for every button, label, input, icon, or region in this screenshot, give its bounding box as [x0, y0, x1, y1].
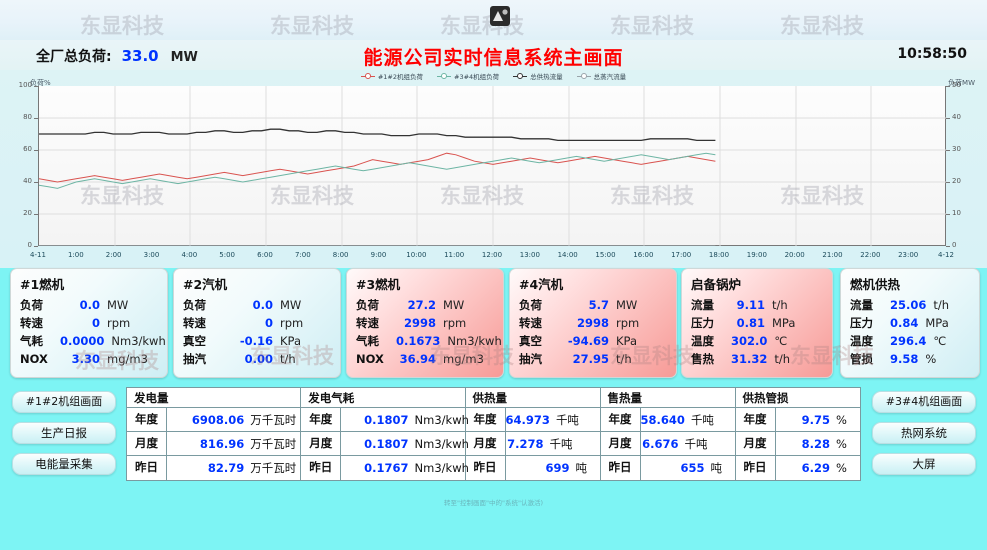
panel-row-label: 管损: [850, 350, 890, 368]
panel-row-value: -94.69: [559, 332, 616, 350]
chart-y-tick-right: 20: [952, 177, 974, 185]
panel-title: #1燃机: [20, 274, 159, 293]
chart-x-tick: 3:00: [132, 251, 172, 259]
panel-row-unit: Nm3/kwh: [447, 332, 499, 350]
panel-row: 管损9.58%: [850, 350, 971, 368]
chart-y-tick: 0: [10, 241, 32, 249]
statistics-unit: 万千瓦时: [244, 436, 296, 452]
panel-row-value: 36.94: [396, 350, 443, 368]
statistics-row-value-cell: 6.676千吨: [641, 432, 735, 455]
panel-row-label: 售热: [691, 350, 731, 368]
panel-row: 转速0rpm: [20, 314, 159, 332]
panel-row-value: 0.0000: [60, 332, 111, 350]
panel-row-unit: rpm: [443, 314, 495, 332]
legend-label: #3#4机组负荷: [454, 71, 499, 81]
chart-plot-area[interactable]: [38, 86, 946, 246]
statistics-unit: %: [830, 437, 856, 451]
panel-row: 负荷0.0MW: [183, 296, 332, 314]
chart-x-tick: 10:00: [396, 251, 436, 259]
chart-y-tick: 60: [10, 145, 32, 153]
panel-row-value: 3.30: [60, 350, 107, 368]
statistics-unit: 千吨: [685, 412, 737, 428]
panel-row-value: 5.7: [559, 296, 616, 314]
chart-x-tick: 19:00: [737, 251, 777, 259]
chart-y-tick: 40: [10, 177, 32, 185]
statistics-row: 月度8.28%: [736, 432, 860, 456]
corner-logo-icon: [489, 5, 511, 27]
statistics-column-header: 售热量: [601, 388, 735, 408]
legend-label: #1#2机组负荷: [378, 71, 423, 81]
statistics-row: 年度0.1807Nm3/kwh: [301, 408, 464, 432]
chart-x-tick: 14:00: [548, 251, 588, 259]
chart-series-line: [39, 153, 715, 182]
chart-y-tick: 100: [10, 81, 32, 89]
statistics-row-label: 昨日: [301, 456, 341, 480]
panel-title: 启备锅炉: [691, 274, 824, 293]
panel-row-value: 0: [60, 314, 107, 332]
statistics-row: 月度6.676千吨: [601, 432, 735, 456]
chart-y-tick: 20: [10, 209, 32, 217]
statistics-unit: Nm3/kwh: [409, 437, 461, 451]
statistics-unit: 吨: [570, 460, 596, 476]
statistics-row: 昨日82.79万千瓦时: [127, 456, 300, 480]
panel-row-label: 气耗: [356, 332, 396, 350]
statistics-column-header: 供热管损: [736, 388, 860, 408]
panel-row-unit: MW: [616, 296, 668, 314]
statistics-row-value-cell: 699吨: [506, 456, 600, 480]
panel-row-unit: MPa: [925, 314, 977, 332]
statistics-row: 月度816.96万千瓦时: [127, 432, 300, 456]
panel-row: 真空-0.16KPa: [183, 332, 332, 350]
heat-network-system-button[interactable]: 热网系统: [872, 422, 976, 444]
statistics-row-label: 月度: [466, 432, 506, 455]
panel-row-label: 真空: [519, 332, 559, 350]
panel-row-label: NOX: [20, 350, 60, 368]
chart-x-tick: 4-12: [926, 251, 966, 259]
chart-x-tick: 12:00: [472, 251, 512, 259]
panel-row: 真空-94.69KPa: [519, 332, 668, 350]
statistics-row-value-cell: 0.1767Nm3/kwh: [341, 456, 464, 480]
statistics-row-label: 昨日: [466, 456, 506, 480]
panel-row-value: 0.0: [223, 296, 280, 314]
chart-x-tick: 1:00: [56, 251, 96, 259]
unit-12-screen-button[interactable]: #1#2机组画面: [12, 391, 116, 413]
big-screen-button[interactable]: 大屏: [872, 453, 976, 475]
statistics-row-label: 昨日: [736, 456, 776, 480]
statistics-row-label: 年度: [601, 408, 641, 431]
equipment-panel[interactable]: #3燃机负荷27.2MW转速2998rpm气耗0.1673Nm3/kwhNOX3…: [346, 268, 504, 378]
panel-row: 转速2998rpm: [519, 314, 668, 332]
statistics-row-value-cell: 655吨: [641, 456, 735, 480]
statistics-value: 0.1807: [364, 437, 408, 451]
panel-title: #4汽机: [519, 274, 668, 293]
statistics-row-value-cell: 58.640千吨: [641, 408, 741, 431]
equipment-panels: #1燃机负荷0.0MW转速0rpm气耗0.0000Nm3/kwhNOX3.30m…: [0, 265, 987, 383]
legend-item[interactable]: 总蒸汽流量: [577, 71, 627, 81]
chart-y-tick-right: 30: [952, 145, 974, 153]
panel-row-label: NOX: [356, 350, 396, 368]
panel-row: 负荷0.0MW: [20, 296, 159, 314]
panel-row-value: 2998: [559, 314, 616, 332]
panel-row-unit: rpm: [616, 314, 668, 332]
legend-marker-icon: [361, 73, 375, 80]
panel-row-unit: %: [925, 350, 977, 368]
statistics-row: 昨日699吨: [466, 456, 600, 480]
equipment-panel[interactable]: #4汽机负荷5.7MW转速2998rpm真空-94.69KPa抽汽27.95t/…: [509, 268, 677, 378]
statistics-value: 699: [546, 461, 570, 475]
statistics-unit: 吨: [705, 460, 731, 476]
panel-row-label: 转速: [20, 314, 60, 332]
statistics-row: 年度64.973千吨: [466, 408, 600, 432]
statistics-column-header: 发电气耗: [301, 388, 464, 408]
statistics-value: 6.676: [642, 437, 678, 451]
panel-row-value: 0.00: [223, 350, 280, 368]
trend-chart[interactable]: #1#2机组负荷#3#4机组负荷总供热流量总蒸汽流量 负荷% 负荷MW 1008…: [0, 70, 987, 268]
panel-row-label: 温度: [691, 332, 731, 350]
panel-row-value: 9.58: [890, 350, 925, 368]
legend-item[interactable]: #1#2机组负荷: [361, 71, 423, 81]
legend-item[interactable]: 总供热流量: [513, 71, 563, 81]
statistics-value: 58.640: [641, 413, 685, 427]
chart-x-tick: 16:00: [623, 251, 663, 259]
statistics-value: 655: [681, 461, 705, 475]
statistics-row: 昨日655吨: [601, 456, 735, 480]
panel-row-label: 真空: [183, 332, 223, 350]
panel-row: 压力0.84MPa: [850, 314, 971, 332]
panel-row-value: 0.1673: [396, 332, 447, 350]
legend-label: 总蒸汽流量: [594, 71, 627, 81]
statistics-unit: Nm3/kwh: [409, 413, 461, 427]
statistics-row-label: 年度: [736, 408, 776, 431]
statistics-row-label: 年度: [301, 408, 341, 431]
statistics-row-label: 月度: [736, 432, 776, 455]
statistics-value: 8.28: [802, 437, 830, 451]
panel-row-unit: rpm: [280, 314, 332, 332]
statistics-row-label: 月度: [127, 432, 167, 455]
panel-row: 售热31.32t/h: [691, 350, 824, 368]
chart-x-tick: 9:00: [359, 251, 399, 259]
panel-row-label: 温度: [850, 332, 890, 350]
panel-row-value: 25.06: [890, 296, 933, 314]
panel-row-value: 2998: [396, 314, 443, 332]
panel-row-unit: Nm3/kwh: [111, 332, 163, 350]
statistics-column: 供热量年度64.973千吨月度7.278千吨昨日699吨: [466, 388, 601, 480]
statistics-row-label: 年度: [466, 408, 506, 431]
statistics-row-label: 昨日: [601, 456, 641, 480]
statistics-value: 7.278: [507, 437, 543, 451]
legend-marker-icon: [513, 73, 527, 80]
chart-y-tick: 80: [10, 113, 32, 121]
statistics-row-value-cell: 6908.06万千瓦时: [167, 408, 300, 431]
chart-x-tick: 4:00: [169, 251, 209, 259]
panel-row-unit: t/h: [772, 296, 824, 314]
chart-x-tick: 13:00: [510, 251, 550, 259]
chart-x-tick: 18:00: [699, 251, 739, 259]
statistics-row-value-cell: 8.28%: [776, 432, 860, 455]
statistics-row-value-cell: 0.1807Nm3/kwh: [341, 408, 464, 431]
panel-row-unit: MW: [280, 296, 332, 314]
chart-legend: #1#2机组负荷#3#4机组负荷总供热流量总蒸汽流量: [0, 70, 987, 82]
panel-row-label: 流量: [691, 296, 731, 314]
statistics-row: 昨日0.1767Nm3/kwh: [301, 456, 464, 480]
footer-note: 转至"控制画面"中的"系统"认激活): [0, 497, 987, 507]
panel-row-label: 负荷: [183, 296, 223, 314]
statistics-row-label: 年度: [127, 408, 167, 431]
panel-title: #2汽机: [183, 274, 332, 293]
panel-title: #3燃机: [356, 274, 495, 293]
chart-x-tick: 6:00: [245, 251, 285, 259]
panel-row-label: 负荷: [519, 296, 559, 314]
statistics-value: 6908.06: [192, 413, 244, 427]
panel-row-value: 31.32: [731, 350, 774, 368]
chart-x-tick: 11:00: [434, 251, 474, 259]
statistics-value: 82.79: [208, 461, 244, 475]
statistics-row: 年度9.75%: [736, 408, 860, 432]
clock-display: 10:58:50: [897, 46, 967, 62]
panel-row: 温度302.0℃: [691, 332, 824, 350]
chart-x-tick: 21:00: [813, 251, 853, 259]
equipment-panel[interactable]: #1燃机负荷0.0MW转速0rpm气耗0.0000Nm3/kwhNOX3.30m…: [10, 268, 168, 378]
equipment-panel[interactable]: 燃机供热流量25.06t/h压力0.84MPa温度296.4℃管损9.58%: [840, 268, 980, 378]
statistics-unit: 万千瓦时: [244, 412, 296, 428]
statistics-column-header: 供热量: [466, 388, 600, 408]
statistics-row: 年度6908.06万千瓦时: [127, 408, 300, 432]
statistics-value: 9.75: [802, 413, 830, 427]
panel-row-value: 0.81: [731, 314, 772, 332]
equipment-panel[interactable]: #2汽机负荷0.0MW转速0rpm真空-0.16KPa抽汽0.00t/h: [173, 268, 341, 378]
statistics-unit: 万千瓦时: [244, 460, 296, 476]
panel-row: 抽汽27.95t/h: [519, 350, 668, 368]
panel-row-value: 27.95: [559, 350, 616, 368]
panel-row-unit: MW: [443, 296, 495, 314]
statistics-row: 月度0.1807Nm3/kwh: [301, 432, 464, 456]
panel-row: 流量9.11t/h: [691, 296, 824, 314]
statistics-value: 816.96: [200, 437, 244, 451]
panel-row-label: 抽汽: [183, 350, 223, 368]
equipment-panel[interactable]: 启备锅炉流量9.11t/h压力0.81MPa温度302.0℃售热31.32t/h: [681, 268, 833, 378]
chart-x-tick: 22:00: [850, 251, 890, 259]
statistics-unit: %: [830, 413, 856, 427]
panel-row-unit: t/h: [616, 350, 668, 368]
page-title: 能源公司实时信息系统主画面: [0, 43, 987, 70]
statistics-value: 64.973: [506, 413, 550, 427]
panel-row-unit: KPa: [280, 332, 332, 350]
panel-row-unit: ℃: [774, 332, 826, 350]
chart-x-tick: 15:00: [586, 251, 626, 259]
panel-row-unit: mg/m3: [107, 350, 159, 368]
chart-series-line: [39, 129, 715, 140]
panel-row-unit: t/h: [280, 350, 332, 368]
panel-row-label: 负荷: [356, 296, 396, 314]
panel-row-unit: rpm: [107, 314, 159, 332]
chart-x-tick: 4-11: [18, 251, 58, 259]
statistics-row: 月度7.278千吨: [466, 432, 600, 456]
panel-row: 负荷27.2MW: [356, 296, 495, 314]
panel-title: 燃机供热: [850, 274, 971, 293]
chart-x-tick: 7:00: [283, 251, 323, 259]
chart-x-tick: 20:00: [775, 251, 815, 259]
panel-row: 温度296.4℃: [850, 332, 971, 350]
statistics-row-value-cell: 82.79万千瓦时: [167, 456, 300, 480]
legend-item[interactable]: #3#4机组负荷: [437, 71, 499, 81]
panel-row-unit: t/h: [774, 350, 826, 368]
panel-row-value: 27.2: [396, 296, 443, 314]
energy-metering-button[interactable]: 电能量采集: [12, 453, 116, 475]
panel-row: NOX3.30mg/m3: [20, 350, 159, 368]
statistics-value: 0.1767: [364, 461, 408, 475]
chart-x-tick: 8:00: [321, 251, 361, 259]
statistics-unit: 千吨: [550, 412, 602, 428]
legend-label: 总供热流量: [530, 71, 563, 81]
statistics-row-value-cell: 816.96万千瓦时: [167, 432, 300, 455]
statistics-row: 年度58.640千吨: [601, 408, 735, 432]
panel-row-label: 转速: [356, 314, 396, 332]
chart-series-line: [39, 153, 715, 188]
unit-34-screen-button[interactable]: #3#4机组画面: [872, 391, 976, 413]
statistics-unit: 千吨: [544, 436, 596, 452]
chart-y-tick-right: 40: [952, 113, 974, 121]
panel-row-value: 0.84: [890, 314, 925, 332]
statistics-unit: %: [830, 461, 856, 475]
statistics-row-label: 昨日: [127, 456, 167, 480]
panel-row-unit: MW: [107, 296, 159, 314]
statistics-column-header: 发电量: [127, 388, 300, 408]
panel-row-unit: mg/m3: [443, 350, 495, 368]
panel-row-unit: KPa: [616, 332, 668, 350]
statistics-row-value-cell: 64.973千吨: [506, 408, 606, 431]
panel-row: 转速0rpm: [183, 314, 332, 332]
panel-row-label: 流量: [850, 296, 890, 314]
panel-row-label: 气耗: [20, 332, 60, 350]
statistics-unit: 千吨: [679, 436, 731, 452]
statistics-column: 供热管损年度9.75%月度8.28%昨日6.29%: [736, 388, 860, 480]
panel-row-value: -0.16: [223, 332, 280, 350]
panel-row-unit: ℃: [933, 332, 985, 350]
statistics-value: 0.1807: [364, 413, 408, 427]
bottom-section: #1#2机组画面生产日报电能量采集 发电量年度6908.06万千瓦时月度816.…: [0, 385, 987, 490]
statistics-row-value-cell: 9.75%: [776, 408, 860, 431]
statistics-column: 发电气耗年度0.1807Nm3/kwh月度0.1807Nm3/kwh昨日0.17…: [301, 388, 465, 480]
statistics-row-value-cell: 0.1807Nm3/kwh: [341, 432, 464, 455]
panel-row: 气耗0.1673Nm3/kwh: [356, 332, 495, 350]
panel-row-label: 转速: [519, 314, 559, 332]
statistics-row: 昨日6.29%: [736, 456, 860, 480]
panel-row: 流量25.06t/h: [850, 296, 971, 314]
legend-marker-icon: [437, 73, 451, 80]
panel-row-value: 0: [223, 314, 280, 332]
production-daily-report-button[interactable]: 生产日报: [12, 422, 116, 444]
chart-x-tick: 17:00: [661, 251, 701, 259]
statistics-value: 6.29: [802, 461, 830, 475]
panel-row-label: 压力: [691, 314, 731, 332]
chart-y-tick-right: 50: [952, 81, 974, 89]
panel-row-label: 负荷: [20, 296, 60, 314]
chart-x-tick: 5:00: [207, 251, 247, 259]
statistics-table: 发电量年度6908.06万千瓦时月度816.96万千瓦时昨日82.79万千瓦时发…: [126, 387, 861, 481]
panel-row-value: 296.4: [890, 332, 933, 350]
chart-y-tick-right: 0: [952, 241, 974, 249]
panel-row-label: 压力: [850, 314, 890, 332]
legend-marker-icon: [577, 73, 591, 80]
statistics-row-label: 月度: [301, 432, 341, 455]
panel-row-value: 0.0: [60, 296, 107, 314]
statistics-row-value-cell: 7.278千吨: [506, 432, 600, 455]
chart-x-tick: 23:00: [888, 251, 928, 259]
statistics-row-value-cell: 6.29%: [776, 456, 860, 480]
panel-row-unit: MPa: [772, 314, 824, 332]
panel-row-label: 转速: [183, 314, 223, 332]
chart-x-tick: 2:00: [94, 251, 134, 259]
panel-row: 抽汽0.00t/h: [183, 350, 332, 368]
panel-row: 负荷5.7MW: [519, 296, 668, 314]
panel-row-unit: t/h: [933, 296, 985, 314]
panel-row-value: 9.11: [731, 296, 772, 314]
chart-y-tick-right: 10: [952, 209, 974, 217]
panel-row: 转速2998rpm: [356, 314, 495, 332]
panel-row: NOX36.94mg/m3: [356, 350, 495, 368]
panel-row: 压力0.81MPa: [691, 314, 824, 332]
panel-row-label: 抽汽: [519, 350, 559, 368]
statistics-column: 发电量年度6908.06万千瓦时月度816.96万千瓦时昨日82.79万千瓦时: [127, 388, 301, 480]
statistics-column: 售热量年度58.640千吨月度6.676千吨昨日655吨: [601, 388, 736, 480]
panel-row: 气耗0.0000Nm3/kwh: [20, 332, 159, 350]
panel-row-value: 302.0: [731, 332, 774, 350]
statistics-row-label: 月度: [601, 432, 641, 455]
statistics-unit: Nm3/kwh: [409, 461, 461, 475]
